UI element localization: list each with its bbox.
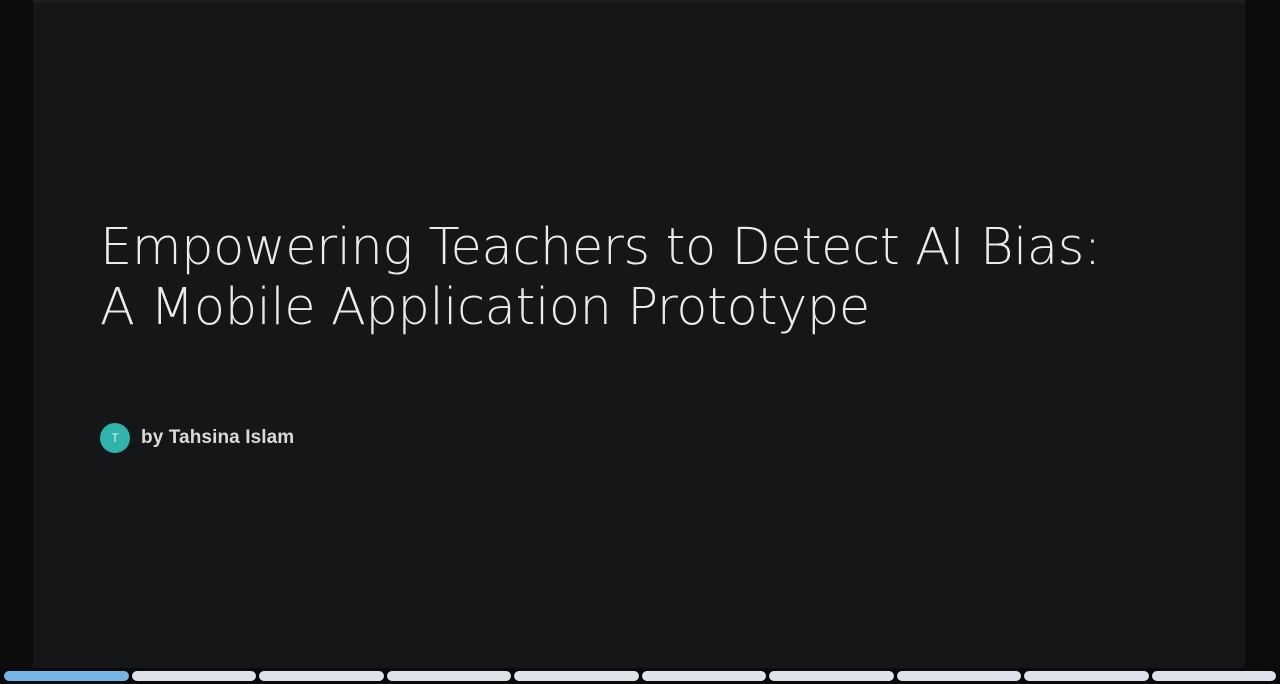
progress-segment-9[interactable] [1024, 671, 1149, 681]
progress-segment-3[interactable] [259, 671, 384, 681]
slide-canvas[interactable]: Empowering Teachers to Detect AI Bias: A… [33, 0, 1245, 668]
byline: T by Tahsina Islam [100, 423, 294, 453]
progress-segment-6[interactable] [642, 671, 767, 681]
slide-progress-bar[interactable] [4, 671, 1276, 681]
progress-segment-10[interactable] [1152, 671, 1277, 681]
slide-gutter-left [0, 0, 33, 668]
progress-segment-4[interactable] [387, 671, 512, 681]
byline-author: by Tahsina Islam [141, 427, 294, 449]
progress-segment-1[interactable] [4, 671, 129, 681]
presentation-viewer: Empowering Teachers to Detect AI Bias: A… [0, 0, 1280, 684]
slide-content: Empowering Teachers to Detect AI Bias: A… [100, 0, 1185, 668]
progress-segment-5[interactable] [514, 671, 639, 681]
avatar: T [100, 423, 130, 453]
progress-segment-2[interactable] [132, 671, 257, 681]
progress-segment-8[interactable] [897, 671, 1022, 681]
progress-segment-7[interactable] [769, 671, 894, 681]
slide-title: Empowering Teachers to Detect AI Bias: A… [100, 218, 1110, 338]
slide-gutter-right [1245, 0, 1280, 668]
